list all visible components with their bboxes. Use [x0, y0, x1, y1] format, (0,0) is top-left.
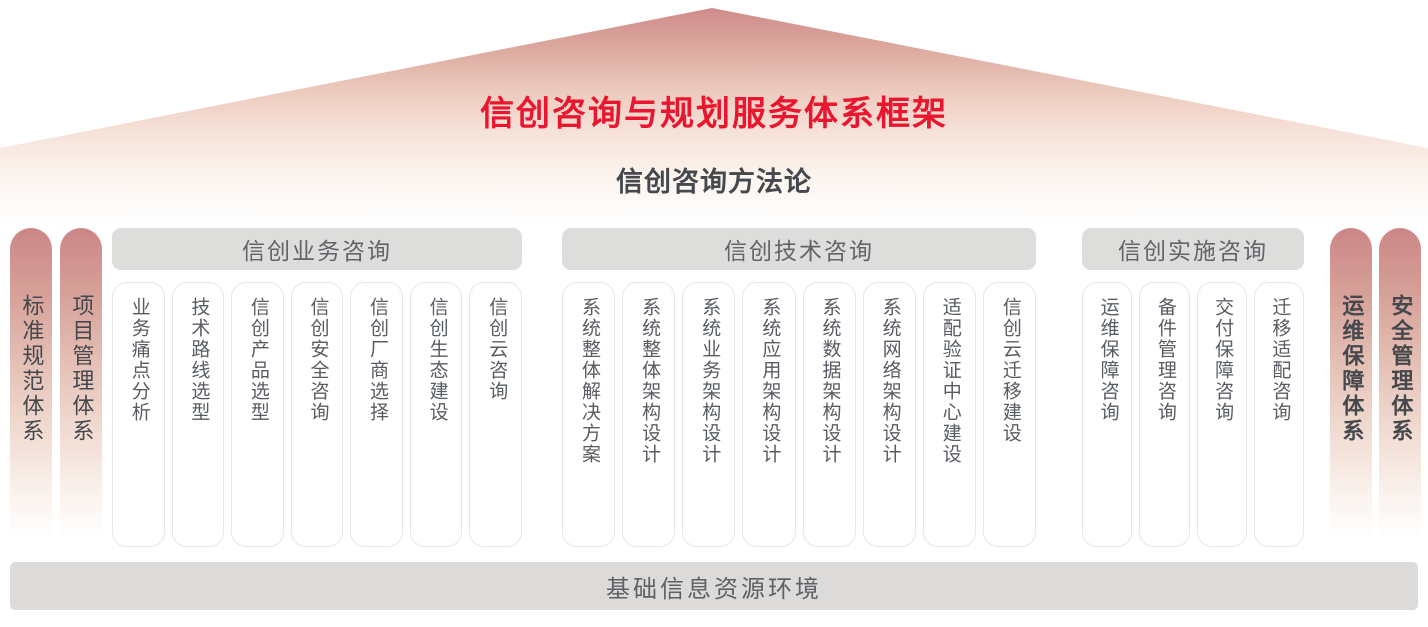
item-label: 信创安全咨询: [307, 297, 328, 423]
item-label: 信创云迁移建设: [999, 297, 1020, 444]
item-label: 信创云咨询: [485, 297, 506, 402]
item-card[interactable]: 信创厂商选择: [350, 282, 403, 547]
item-label: 备件管理咨询: [1154, 297, 1175, 423]
item-card[interactable]: 信创云咨询: [469, 282, 522, 547]
group-technical-header-label: 信创技术咨询: [724, 232, 874, 266]
pillar-standard-label: 标准规范体系: [19, 294, 44, 444]
item-card[interactable]: 信创产品选型: [231, 282, 284, 547]
item-label: 信创生态建设: [426, 297, 447, 423]
group-business-header-label: 信创业务咨询: [242, 232, 392, 266]
group-technical-header[interactable]: 信创技术咨询: [562, 228, 1036, 270]
item-label: 系统业务架构设计: [698, 297, 719, 465]
page-title: 信创咨询与规划服务体系框架: [0, 96, 1428, 133]
item-card[interactable]: 运维保障咨询: [1082, 282, 1132, 547]
item-card[interactable]: 信创云迁移建设: [983, 282, 1036, 547]
item-label: 系统整体架构设计: [638, 297, 659, 465]
pillar-security[interactable]: 安全管理体系: [1379, 228, 1421, 550]
item-label: 技术路线选型: [187, 297, 208, 423]
group-technical-consulting: 信创技术咨询 系统整体解决方案 系统整体架构设计 系统业务架构设计 系统应用架构…: [562, 228, 1036, 547]
item-card[interactable]: 信创安全咨询: [291, 282, 344, 547]
item-card[interactable]: 系统数据架构设计: [803, 282, 856, 547]
pillar-standard[interactable]: 标准规范体系: [10, 228, 52, 550]
item-card[interactable]: 交付保障咨询: [1197, 282, 1247, 547]
item-label: 交付保障咨询: [1211, 297, 1232, 423]
item-card[interactable]: 系统整体解决方案: [562, 282, 615, 547]
foundation-label: 基础信息资源环境: [606, 569, 822, 604]
pillar-security-label: 安全管理体系: [1388, 294, 1413, 444]
item-label: 适配验证中心建设: [939, 297, 960, 465]
item-label: 业务痛点分析: [128, 297, 149, 423]
group-implementation-header-label: 信创实施咨询: [1118, 232, 1268, 266]
foundation-bar[interactable]: 基础信息资源环境: [10, 562, 1418, 610]
pillar-ops[interactable]: 运维保障体系: [1330, 228, 1372, 550]
pillar-project-label: 项目管理体系: [69, 294, 94, 444]
pillar-ops-label: 运维保障体系: [1339, 294, 1364, 444]
group-business-header[interactable]: 信创业务咨询: [112, 228, 522, 270]
item-label: 迁移适配咨询: [1268, 297, 1289, 423]
item-label: 系统整体解决方案: [578, 297, 599, 465]
group-implementation-header[interactable]: 信创实施咨询: [1082, 228, 1304, 270]
group-implementation-items: 运维保障咨询 备件管理咨询 交付保障咨询 迁移适配咨询: [1082, 282, 1304, 547]
item-card[interactable]: 适配验证中心建设: [923, 282, 976, 547]
item-label: 运维保障咨询: [1097, 297, 1118, 423]
item-label: 系统应用架构设计: [758, 297, 779, 465]
item-label: 信创产品选型: [247, 297, 268, 423]
group-business-items: 业务痛点分析 技术路线选型 信创产品选型 信创安全咨询 信创厂商选择 信创生态建…: [112, 282, 522, 547]
item-card[interactable]: 技术路线选型: [172, 282, 225, 547]
group-business-consulting: 信创业务咨询 业务痛点分析 技术路线选型 信创产品选型 信创安全咨询 信创厂商选…: [112, 228, 522, 547]
item-card[interactable]: 系统业务架构设计: [682, 282, 735, 547]
group-implementation-consulting: 信创实施咨询 运维保障咨询 备件管理咨询 交付保障咨询 迁移适配咨询: [1082, 228, 1304, 547]
group-technical-items: 系统整体解决方案 系统整体架构设计 系统业务架构设计 系统应用架构设计 系统数据…: [562, 282, 1036, 547]
item-card[interactable]: 业务痛点分析: [112, 282, 165, 547]
item-label: 系统数据架构设计: [819, 297, 840, 465]
item-label: 信创厂商选择: [366, 297, 387, 423]
page-subtitle: 信创咨询方法论: [0, 168, 1428, 198]
item-card[interactable]: 迁移适配咨询: [1254, 282, 1304, 547]
pillar-project[interactable]: 项目管理体系: [60, 228, 102, 550]
item-card[interactable]: 备件管理咨询: [1139, 282, 1189, 547]
item-card[interactable]: 系统网络架构设计: [863, 282, 916, 547]
item-card[interactable]: 系统整体架构设计: [622, 282, 675, 547]
item-label: 系统网络架构设计: [879, 297, 900, 465]
item-card[interactable]: 系统应用架构设计: [742, 282, 795, 547]
item-card[interactable]: 信创生态建设: [410, 282, 463, 547]
